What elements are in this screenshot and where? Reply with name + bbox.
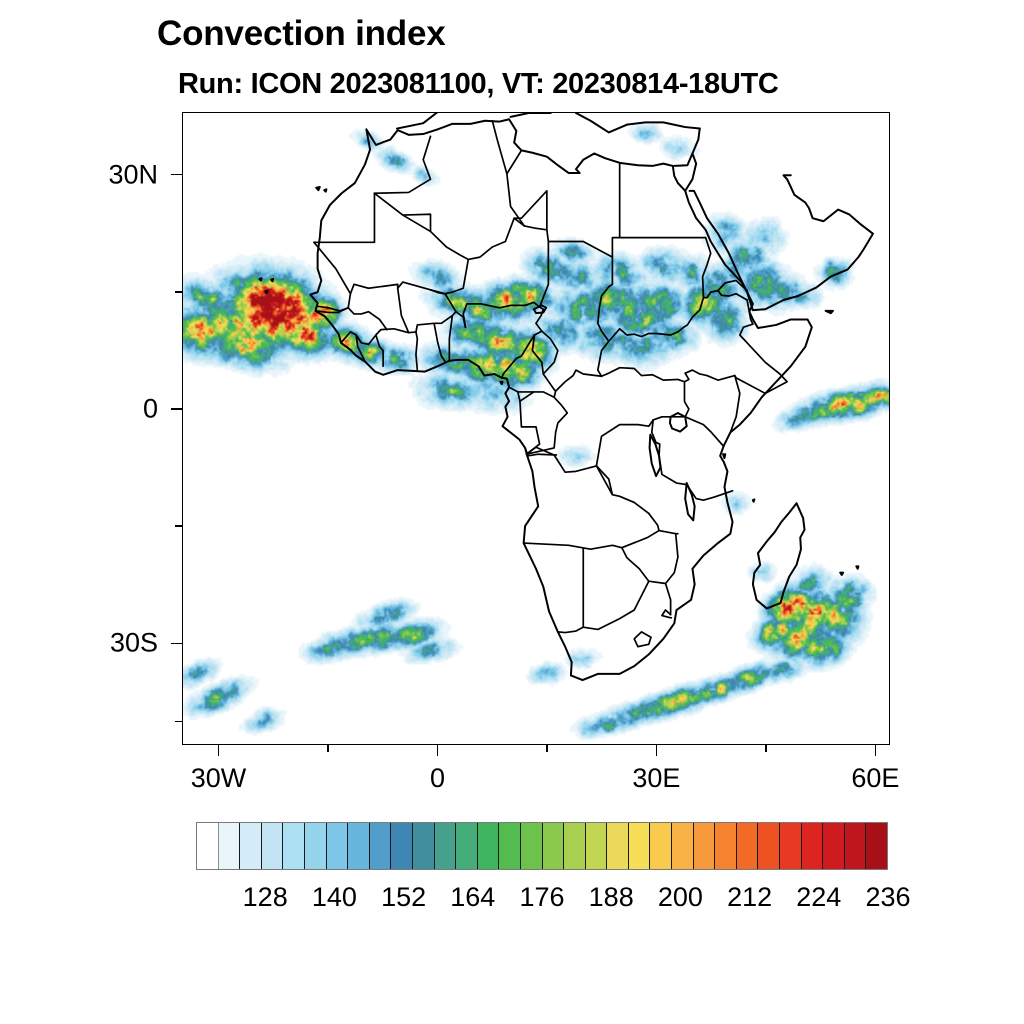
colorbar-band <box>391 823 413 869</box>
x-axis-minor-tick <box>765 745 767 752</box>
colorbar-band <box>715 823 737 869</box>
map-panel <box>182 112 890 745</box>
colorbar-tick-label: 152 <box>381 884 426 911</box>
colorbar-band <box>283 823 305 869</box>
y-axis-tick <box>171 408 182 410</box>
colorbar-band <box>370 823 392 869</box>
colorbar-band <box>348 823 370 869</box>
y-axis-minor-tick <box>175 291 182 293</box>
colorbar-band <box>758 823 780 869</box>
colorbar-band <box>478 823 500 869</box>
y-axis-tick <box>171 643 182 645</box>
colorbar-band <box>564 823 586 869</box>
colorbar-band <box>607 823 629 869</box>
x-axis-minor-tick <box>327 745 329 752</box>
coastline <box>265 291 267 293</box>
x-axis-tick <box>437 745 439 756</box>
colorbar-tick-label: 200 <box>658 884 703 911</box>
colorbar-tick-label: 212 <box>727 884 772 911</box>
colorbar-band <box>672 823 694 869</box>
x-axis-tick <box>218 745 220 756</box>
colorbar-band <box>219 823 241 869</box>
colorbar-band <box>240 823 262 869</box>
x-axis-label: 0 <box>430 765 445 792</box>
coastline <box>753 499 754 501</box>
y-axis-minor-tick <box>175 525 182 527</box>
colorbar-band <box>802 823 824 869</box>
colorbar-band <box>521 823 543 869</box>
colorbar-tick-label: 128 <box>243 884 288 911</box>
colorbar-tick-label: 236 <box>865 884 910 911</box>
colorbar-band <box>586 823 608 869</box>
colorbar-tick-label: 188 <box>589 884 634 911</box>
coastline <box>500 382 502 384</box>
x-axis-tick <box>656 745 658 756</box>
coastline <box>316 187 320 190</box>
convection-index-figure: Convection index Run: ICON 2023081100, V… <box>0 0 1024 1024</box>
colorbar-band <box>435 823 457 869</box>
colorbar-bands <box>196 822 888 870</box>
colorbar-band <box>456 823 478 869</box>
colorbar-tick-label: 224 <box>796 884 841 911</box>
y-axis-label: 30S <box>70 630 158 657</box>
colorbar-band <box>499 823 521 869</box>
page-subtitle: Run: ICON 2023081100, VT: 20230814-18UTC <box>178 70 779 99</box>
coastline <box>856 566 858 568</box>
x-axis-minor-tick <box>546 745 548 752</box>
colorbar <box>196 822 888 870</box>
colorbar-band <box>866 823 887 869</box>
colorbar-band <box>737 823 759 869</box>
colorbar-band <box>780 823 802 869</box>
x-axis-tick <box>875 745 877 756</box>
colorbar-band <box>823 823 845 869</box>
colorbar-tick-label: 140 <box>312 884 357 911</box>
colorbar-band <box>262 823 284 869</box>
x-axis-label: 60E <box>851 765 899 792</box>
colorbar-band <box>694 823 716 869</box>
colorbar-tick-label: 164 <box>450 884 495 911</box>
map-canvas <box>183 113 889 744</box>
y-axis-label: 30N <box>70 161 158 188</box>
coastline <box>271 279 273 281</box>
y-axis-minor-tick <box>175 721 182 723</box>
y-axis-tick <box>171 174 182 176</box>
colorbar-band <box>845 823 867 869</box>
x-axis-label: 30W <box>191 765 247 792</box>
coastline <box>723 454 725 458</box>
colorbar-band <box>629 823 651 869</box>
y-axis-label: 0 <box>70 395 158 422</box>
x-axis-label: 30E <box>632 765 680 792</box>
coastline <box>840 573 843 575</box>
colorbar-tick-label: 176 <box>519 884 564 911</box>
colorbar-band <box>650 823 672 869</box>
colorbar-band <box>305 823 327 869</box>
coastline <box>324 189 326 191</box>
page-title: Convection index <box>157 16 446 51</box>
colorbar-band <box>327 823 349 869</box>
coastline <box>259 278 261 280</box>
colorbar-band <box>543 823 565 869</box>
colorbar-band <box>197 823 219 869</box>
colorbar-band <box>413 823 435 869</box>
